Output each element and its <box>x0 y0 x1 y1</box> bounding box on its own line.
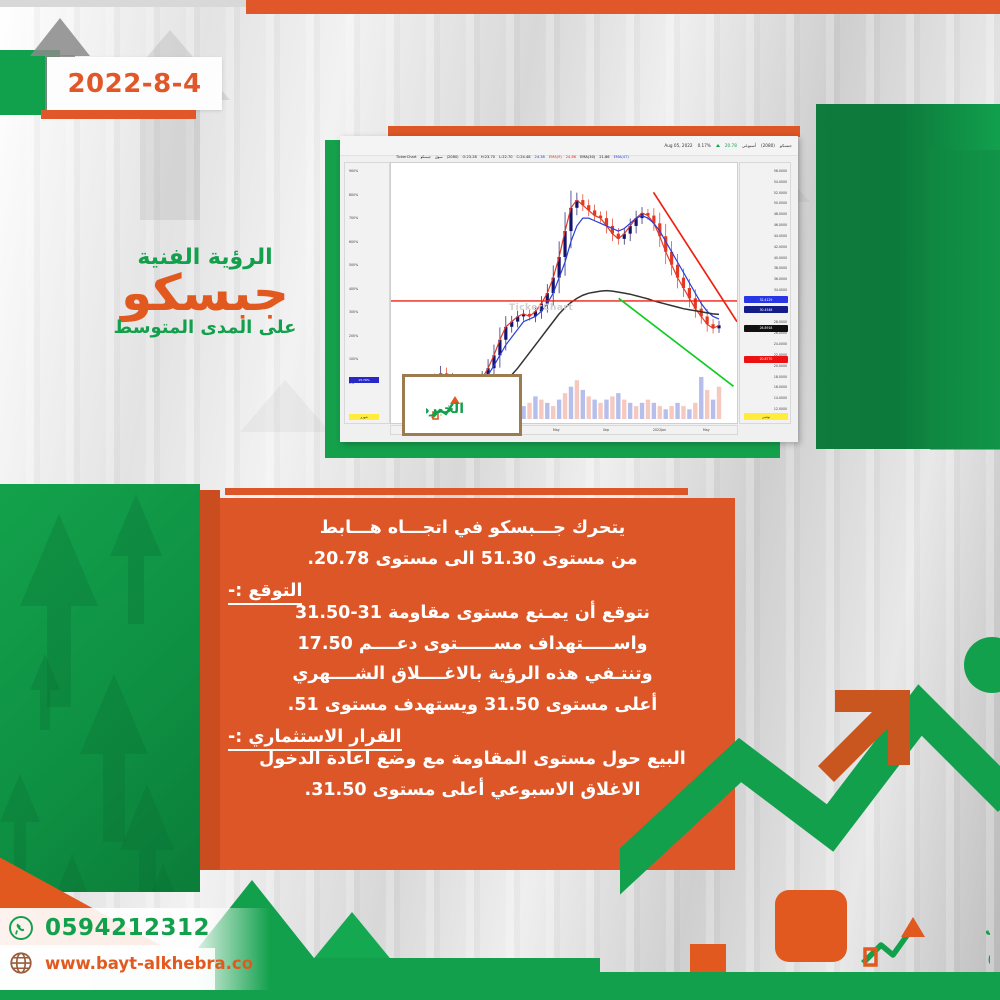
trendline <box>619 298 734 386</box>
contact-website-url[interactable]: www.bayt-alkhebra.co <box>45 954 253 973</box>
volume-bar <box>640 403 644 419</box>
triangle-up-icon <box>716 144 720 147</box>
volume-bar <box>539 400 543 419</box>
left-axis-tick: 800% <box>349 193 358 197</box>
volume-bar <box>581 390 585 419</box>
left-axis-tick: 600% <box>349 240 358 244</box>
whatsapp-icon[interactable] <box>8 915 34 941</box>
right-axis-tick: 36.0000 <box>774 277 787 281</box>
x-axis-tick: May <box>703 428 710 432</box>
arrow-up-icon <box>55 854 89 892</box>
volume-bar <box>664 409 668 419</box>
left-axis-tick: 200% <box>349 334 358 338</box>
right-axis-tick: 26.0000 <box>774 331 787 335</box>
legend-open: O:23.28 <box>463 155 477 159</box>
headline-company: جبسكو <box>60 267 350 320</box>
right-axis-tick: 28.0000 <box>774 320 787 324</box>
analysis-p1-l1: يتحرك جـــبسكو في اتجـــاه هـــابط <box>224 520 721 538</box>
arrow-up-icon <box>110 494 162 556</box>
price-tag: 32.4129 <box>744 296 788 303</box>
chart-legend: TickerChart جبسكو سوق (2080) O:23.28 H:2… <box>396 152 788 162</box>
x-axis-tick: Sep <box>603 428 609 432</box>
analysis-expectation-heading-text: التوقع :- <box>228 581 302 605</box>
chart-watermark: TickerChart <box>509 303 573 313</box>
legend-source: TickerChart <box>396 155 417 159</box>
legend-symbol: جبسكو <box>421 155 431 159</box>
chart-symbol-label: جبسكو <box>780 143 792 148</box>
ghost-arrow-icon <box>240 380 330 432</box>
volume-bar <box>669 406 673 419</box>
price-tag: 20.8770 <box>744 356 788 363</box>
brand-logo-svg: بيت الخبرة <box>855 905 990 977</box>
right-axis-tick: 46.0000 <box>774 223 787 227</box>
volume-bar <box>634 406 638 419</box>
date-badge: 2022-8-4 <box>47 57 222 110</box>
contact-phone-row[interactable]: 0594212312 <box>8 915 288 941</box>
volume-bar <box>557 400 561 419</box>
volume-bar <box>658 406 662 419</box>
left-axis-tick: 100% <box>349 357 358 361</box>
volume-bar <box>646 400 650 419</box>
ghost-arrow-icon <box>30 18 90 56</box>
right-axis-tick: 44.0000 <box>774 234 787 238</box>
right-axis-tick: 50.0000 <box>774 201 787 205</box>
right-axis-tick: 54.0000 <box>774 180 787 184</box>
x-axis-tick: 2022Jan <box>653 428 666 432</box>
left-axis-tick: 900% <box>349 169 358 173</box>
right-axis-tick: 14.0000 <box>774 396 787 400</box>
left-axis-tick: 400% <box>349 287 358 291</box>
legend-ma2-label: EMA(30) <box>580 155 595 159</box>
right-axis-tick: 56.0000 <box>774 169 787 173</box>
right-axis-tick: 38.0000 <box>774 266 787 270</box>
analysis-decision-heading-text: القرار الاستثماري :- <box>228 727 402 751</box>
chart-screenshot: جبسكو (2080) أسبوعي 20.78 0.17% Aug 05, … <box>340 136 798 442</box>
right-green-strip <box>930 150 1000 450</box>
left-arrows-panel <box>0 484 200 892</box>
headline-group: الرؤية الفنية جبسكو على المدى المتوسط <box>60 245 350 338</box>
legend-ma1-label: EMA(9) <box>549 155 562 159</box>
volume-bar <box>563 393 567 419</box>
orange-vertical-bar <box>200 490 220 870</box>
volume-bar <box>527 403 531 419</box>
legend-low: L:22.70 <box>499 155 513 159</box>
right-axis-tick: 24.0000 <box>774 342 787 346</box>
left-axis-tick: 500% <box>349 263 358 267</box>
volume-bar <box>681 406 685 419</box>
contact-website-row[interactable]: www.bayt-alkhebra.co <box>8 950 288 976</box>
right-axis-tick: 34.0000 <box>774 288 787 292</box>
legend-ma3-value: 21.86 <box>599 155 609 159</box>
chart-right-axis: 56.000054.000052.000050.000048.000046.00… <box>739 162 791 424</box>
right-axis-tick: 42.0000 <box>774 245 787 249</box>
chart-left-axis: 900%800%700%600%500%400%300%200%100%0%15… <box>344 162 390 424</box>
orange-rounded-square <box>775 890 847 962</box>
volume-bar <box>699 377 703 419</box>
volume-bar <box>628 403 632 419</box>
volume-bar <box>569 387 573 419</box>
chart-last-price: 20.78 <box>725 143 737 148</box>
right-axis-tick: 40.0000 <box>774 256 787 260</box>
right-axis-tick: 52.0000 <box>774 191 787 195</box>
arrow-up-icon <box>120 784 174 850</box>
right-axis-tick: 48.0000 <box>774 212 787 216</box>
legend-ma3-label: EMA(47) <box>614 155 629 159</box>
date-text: 2022-8-4 <box>67 69 201 99</box>
brand-logo: بيت الخبرة <box>855 905 990 977</box>
left-axis-tick: 700% <box>349 216 358 220</box>
left-axis-tick: 300% <box>349 310 358 314</box>
right-axis-tick: 20.0000 <box>774 364 787 368</box>
svg-text:الخبرة: الخبرة <box>426 401 464 417</box>
right-axis-tick: 12.0000 <box>774 407 787 411</box>
green-circle-accent <box>964 637 1000 693</box>
volume-bar <box>604 400 608 419</box>
arrow-up-icon <box>20 514 98 606</box>
x-axis-tick: May <box>553 428 560 432</box>
chart-code-label: (2080) <box>761 143 775 148</box>
contact-phone-number[interactable]: 0594212312 <box>45 915 210 941</box>
volume-bar <box>521 406 525 419</box>
volume-bar <box>545 403 549 419</box>
volume-bar <box>687 409 691 419</box>
legend-market: سوق <box>435 155 443 159</box>
brand-name-main: الخبرة <box>987 934 990 974</box>
infographic-page: 2022-8-4 جبسكو (2080) أسبوعي 20.78 0.17%… <box>0 0 1000 1000</box>
legend-ma2-value: 24.86 <box>566 155 576 159</box>
headline-subtitle: على المدى المتوسط <box>60 317 350 338</box>
arrow-up-stem <box>128 556 145 624</box>
top-orange-bar <box>246 0 1000 14</box>
analysis-separator <box>225 488 688 495</box>
volume-bar <box>598 403 602 419</box>
volume-bar <box>622 400 626 419</box>
volume-bar <box>652 403 656 419</box>
price-tag: 26.8918 <box>744 325 788 332</box>
volume-bar <box>717 387 721 419</box>
legend-code: (2080) <box>447 155 459 159</box>
legend-ma1-value: 24.38 <box>535 155 545 159</box>
volume-bar <box>711 400 715 419</box>
chart-timeframe-label: أسبوعي <box>742 143 756 148</box>
left-timeframe-tag: شهري <box>349 414 379 420</box>
globe-icon[interactable] <box>8 950 34 976</box>
volume-bar <box>693 403 697 419</box>
top-bar-left-gap <box>0 0 246 7</box>
arrow-up-icon <box>80 674 148 754</box>
date-underline <box>41 110 196 119</box>
ma-line <box>417 200 719 394</box>
price-tag: 30.4548 <box>744 306 788 313</box>
contact-block: 0594212312 www.bayt-alkhebra.co <box>8 915 288 985</box>
volume-bar <box>587 396 591 419</box>
left-percent-tag: 15.76% <box>349 377 379 383</box>
legend-high: H:23.70 <box>481 155 495 159</box>
arrow-up-icon <box>0 774 40 822</box>
volume-bar <box>616 393 620 419</box>
volume-bar <box>533 396 537 419</box>
volume-bar <box>575 380 579 419</box>
arrow-up-icon <box>150 864 176 892</box>
arrow-up-icon <box>30 654 60 690</box>
chart-date: Aug 05, 2022 <box>664 143 692 148</box>
volume-bar <box>592 400 596 419</box>
volume-bar <box>675 403 679 419</box>
right-axis-tick: 18.0000 <box>774 375 787 379</box>
right-axis-tick: 16.0000 <box>774 385 787 389</box>
chart-logo-watermark: الخبرة <box>402 374 522 436</box>
volume-bar <box>705 390 709 419</box>
chart-change-pct: 0.17% <box>698 143 711 148</box>
timeframe-tag: توقيتي <box>744 413 788 420</box>
arrow-up-stem <box>40 690 50 730</box>
growth-arrow-icon <box>863 917 925 965</box>
volume-bar <box>610 396 614 419</box>
bayt-alkhebra-logo-icon: الخبرة <box>426 388 498 422</box>
volume-bar <box>551 406 555 419</box>
legend-close: C:24.48 <box>517 155 531 159</box>
